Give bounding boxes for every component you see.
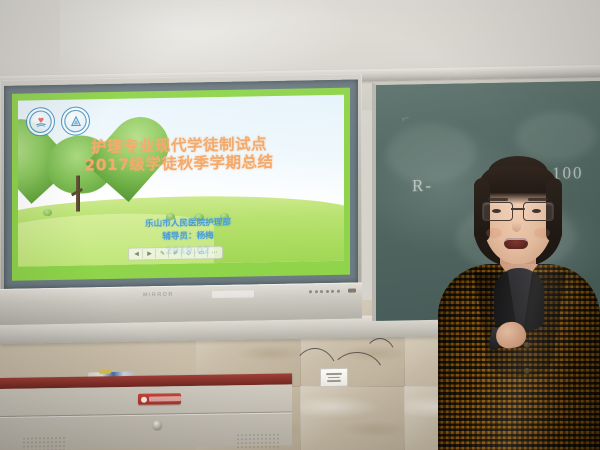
speaker-grille-left bbox=[22, 436, 66, 450]
whiteboard-key[interactable] bbox=[320, 290, 323, 293]
presenter bbox=[438, 160, 600, 450]
powerpoint-presenter-toolbar[interactable]: ◀ ▶ ✎ ✐ ◇ ▭ ⋯ bbox=[128, 246, 223, 261]
whiteboard-key[interactable] bbox=[326, 290, 329, 293]
whiteboard-key[interactable] bbox=[337, 290, 340, 293]
eyeglasses bbox=[482, 202, 554, 220]
pen-icon[interactable]: ✐ bbox=[170, 249, 182, 258]
eyebrow-left bbox=[488, 198, 508, 201]
eraser-icon[interactable]: ◇ bbox=[183, 248, 195, 257]
lens-left bbox=[482, 202, 513, 221]
infrared-sensor-icon bbox=[348, 288, 356, 292]
more-options-icon[interactable]: ⋯ bbox=[209, 248, 220, 257]
slideshow-prev-icon[interactable]: ◀ bbox=[131, 249, 143, 258]
lectern-brand-badge bbox=[138, 393, 181, 405]
presentation-slide[interactable]: 护理专业现代学徒制试点 2017级学徒秋季学期总结 乐山市人民医院护理部 辅导员… bbox=[18, 95, 344, 267]
cheek-right bbox=[534, 228, 550, 238]
cheek-left bbox=[486, 228, 502, 238]
classroom-photo-scene: ⌐ R- 100 bbox=[0, 0, 600, 450]
counter-info-card bbox=[320, 368, 348, 387]
hospital-emblem-logo bbox=[26, 107, 55, 137]
eyebrow-right bbox=[528, 198, 548, 201]
slide-logos bbox=[26, 106, 90, 136]
speaker-grille-right bbox=[236, 433, 280, 450]
lectern-cabinet[interactable] bbox=[0, 373, 292, 450]
whiteboard-sticker bbox=[212, 290, 254, 298]
whiteboard-brand-label: MIRROR bbox=[143, 292, 174, 299]
chalk-note-r: R- bbox=[412, 176, 433, 196]
chalk-note-fragment: ⌐ bbox=[401, 110, 411, 127]
slideshow-next-icon[interactable]: ▶ bbox=[144, 249, 156, 258]
interactive-whiteboard[interactable]: 护理专业现代学徒制试点 2017级学徒秋季学期总结 乐山市人民医院护理部 辅导员… bbox=[0, 73, 362, 325]
nose bbox=[512, 222, 521, 232]
whiteboard-control-buttons[interactable] bbox=[309, 290, 340, 294]
whiteboard-key[interactable] bbox=[315, 290, 318, 293]
whiteboard-key[interactable] bbox=[331, 290, 334, 293]
menu-icon[interactable]: ▭ bbox=[196, 248, 208, 257]
lectern-panel-seam bbox=[0, 411, 292, 417]
whiteboard-screen[interactable]: 护理专业现代学徒制试点 2017级学徒秋季学期总结 乐山市人民医院护理部 辅导员… bbox=[4, 79, 358, 288]
slide-title: 护理专业现代学徒制试点 2017级学徒秋季学期总结 bbox=[18, 135, 340, 177]
wall-tile bbox=[300, 386, 405, 450]
ledge-object-yellow bbox=[99, 369, 111, 374]
nursing-association-logo bbox=[61, 106, 90, 136]
whiteboard-key[interactable] bbox=[309, 290, 312, 293]
pointer-icon[interactable]: ✎ bbox=[157, 249, 169, 258]
houndstooth-coat bbox=[438, 264, 600, 450]
projection-surface[interactable]: 护理专业现代学徒制试点 2017级学徒秋季学期总结 乐山市人民医院护理部 辅导员… bbox=[12, 88, 350, 281]
mouth bbox=[504, 238, 528, 249]
lens-right bbox=[523, 202, 554, 221]
whiteboard-lower-bezel: MIRROR bbox=[0, 282, 362, 325]
